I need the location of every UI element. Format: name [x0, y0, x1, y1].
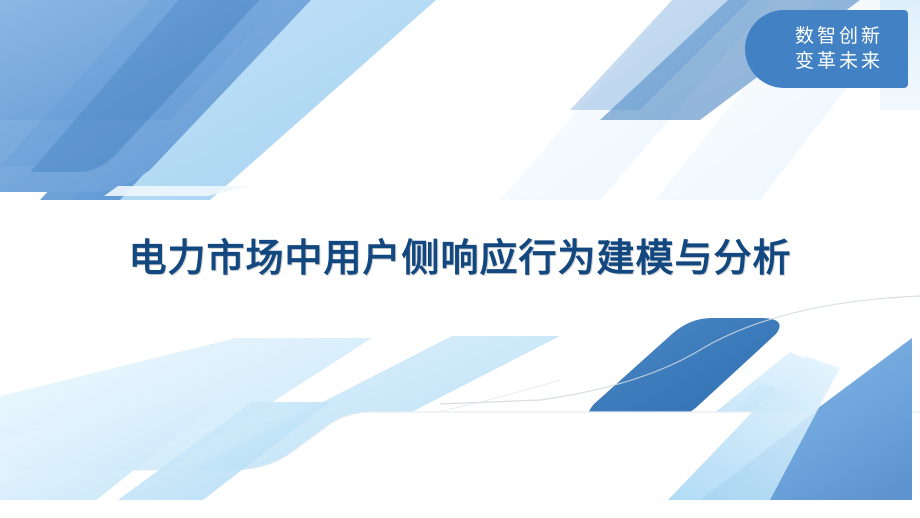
badge-line-1: 数智创新 [792, 24, 883, 49]
slide-title: 电力市场中用户侧响应行为建模与分析 [0, 234, 920, 284]
badge-line-2: 变革未来 [792, 49, 883, 74]
presentation-slide: 数智创新 变革未来 电力市场中用户侧响应行为建模与分析 [0, 0, 920, 518]
corner-badge: 数智创新 变革未来 [745, 10, 908, 88]
